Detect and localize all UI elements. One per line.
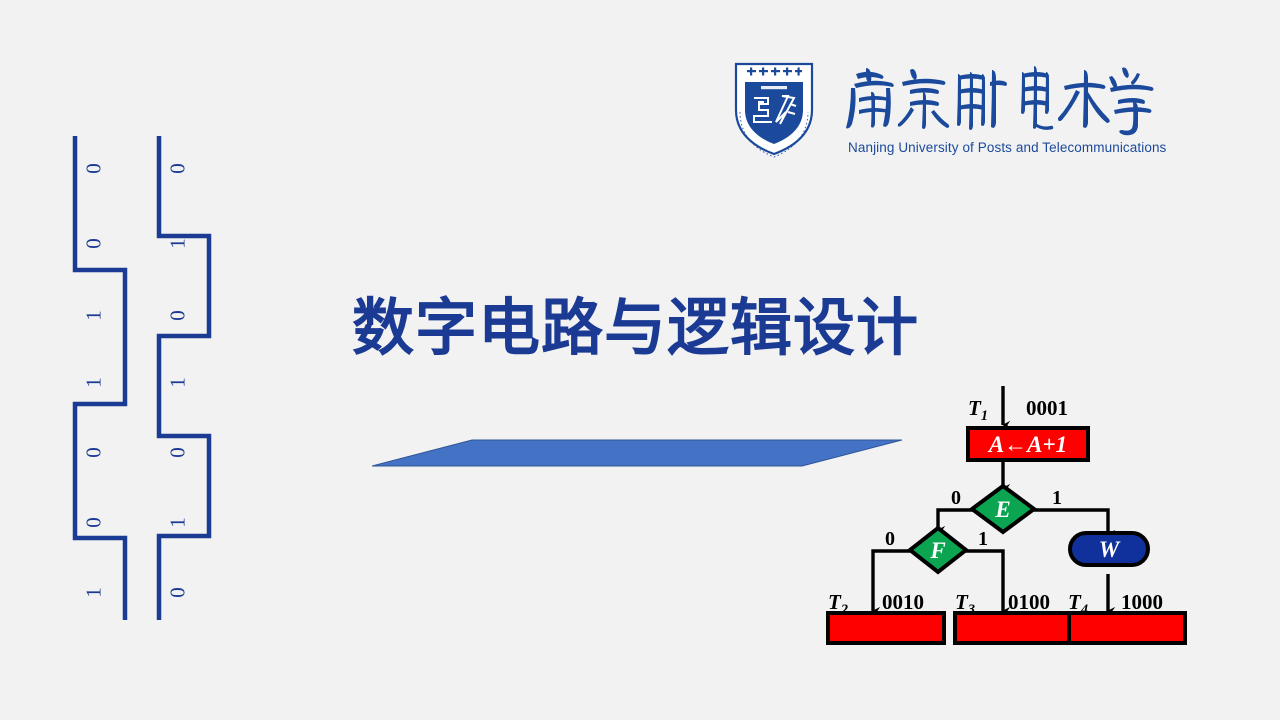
state-label-t2: T2: [828, 590, 848, 619]
waveform-bit: 1: [82, 371, 107, 395]
slide-canvas: Nanjing University of Posts and Telecomm…: [0, 0, 1280, 720]
state-code-t2: 0010: [882, 590, 924, 615]
waveform-bit: 0: [82, 511, 107, 535]
branch-label-e-1: 1: [1052, 487, 1062, 510]
state-flow-diagram: A←A+1 E F W T1 0001 0 1 0 1 T2 0010 T3 0…: [818, 378, 1208, 670]
decision-e-text: E: [994, 497, 1010, 522]
waveform-bit: 0: [82, 157, 107, 181]
university-wordmark: Nanjing University of Posts and Telecomm…: [846, 60, 1168, 158]
edge-e-1-to-w: [1031, 510, 1108, 534]
edge-e-0-to-f: [938, 510, 976, 530]
state-label-t4: T4: [1068, 590, 1088, 619]
digital-waveform-graphic: 0 0 1 1 0 0 1 0 1 0 1 0 1 0: [56, 118, 240, 638]
svg-text:Nanjing University of Posts a: Nanjing University of Posts and Telecomm…: [848, 140, 1167, 155]
waveform-bit: 0: [82, 232, 107, 256]
branch-label-e-0: 0: [951, 487, 961, 510]
state-code-t3: 0100: [1008, 590, 1050, 615]
state-code-t4: 1000: [1121, 590, 1163, 615]
decision-f-text: F: [929, 538, 945, 563]
state-label-t3: T3: [955, 590, 975, 619]
wait-w-text: W: [1099, 537, 1121, 562]
waveform-bit: 0: [82, 441, 107, 465]
waveform-bit: 1: [82, 581, 107, 605]
nupt-shield-emblem: [728, 58, 820, 158]
waveform-bit: 0: [166, 581, 191, 605]
waveform-bit: 0: [166, 304, 191, 328]
state-code-t1: 0001: [1026, 396, 1068, 421]
waveform-bit: 0: [166, 157, 191, 181]
waveform-bit: 1: [166, 371, 191, 395]
branch-label-f-0: 0: [885, 528, 895, 551]
waveform-bit: 0: [166, 441, 191, 465]
action-box-text: A←A+1: [987, 432, 1067, 457]
branch-label-f-1: 1: [978, 528, 988, 551]
waveform-bit: 1: [82, 304, 107, 328]
state-label-t1: T1: [968, 396, 988, 425]
waveform-bit: 1: [166, 232, 191, 256]
waveform-bit: 1: [166, 511, 191, 535]
university-logo: Nanjing University of Posts and Telecomm…: [728, 58, 1168, 158]
slide-title: 数字电路与逻辑设计: [352, 296, 952, 361]
